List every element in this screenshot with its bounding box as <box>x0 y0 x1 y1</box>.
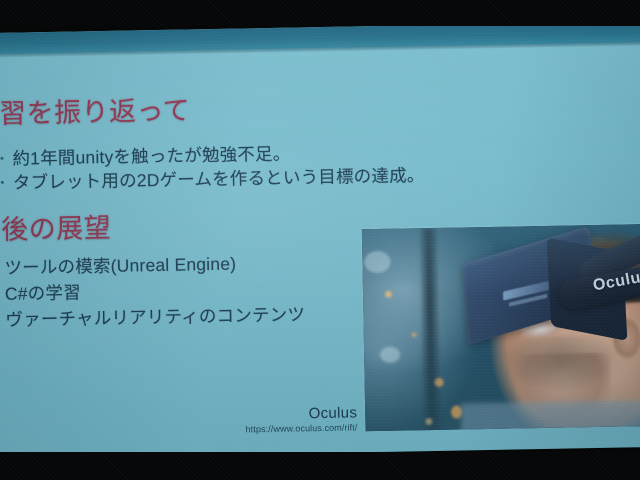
bullet-dot-icon <box>1 181 4 184</box>
list-item-label: C#の学習 <box>5 282 81 303</box>
bullet-dot-icon <box>0 157 3 160</box>
presentation-screen: 演習を振り返って 約1年間unityを触ったが勉強不足。 タブレット用の2Dゲー… <box>0 21 640 459</box>
bullet-list-review: 約1年間unityを触ったが勉強不足。 タブレット用の2Dゲームを作るという目標… <box>12 139 424 195</box>
photo-caption: Oculus https://www.oculus.com/rift/ <box>185 404 358 437</box>
bullet-list-outlook: ツールの模索(Unreal Engine) C#の学習 ヴァーチャルリアリティの… <box>4 249 305 332</box>
room-dark-bottom <box>0 452 640 480</box>
list-item-label: 約1年間unityを触ったが勉強不足。 <box>12 144 290 169</box>
oculus-rift-photo: Oculus <box>362 224 640 431</box>
room-dark-top <box>0 0 640 26</box>
list-item-label: タブレット用の2Dゲームを作るという目標の達成。 <box>13 165 425 193</box>
section-heading-outlook: 今後の展望 <box>0 206 112 248</box>
section-heading-review: 演習を振り返って <box>0 88 191 131</box>
list-item-label: ヴァーチャルリアリティのコンテンツ <box>5 304 305 329</box>
photo-projection-haze <box>362 224 640 431</box>
caption-source-url: https://www.oculus.com/rift/ <box>185 421 357 437</box>
slide-content: 演習を振り返って 約1年間unityを触ったが勉強不足。 タブレット用の2Dゲー… <box>0 21 640 459</box>
list-item-label: ツールの模索(Unreal Engine) <box>4 254 236 278</box>
list-item: ヴァーチャルリアリティのコンテンツ <box>5 301 305 332</box>
projected-slide-photo: 演習を振り返って 約1年間unityを触ったが勉強不足。 タブレット用の2Dゲー… <box>0 0 640 480</box>
